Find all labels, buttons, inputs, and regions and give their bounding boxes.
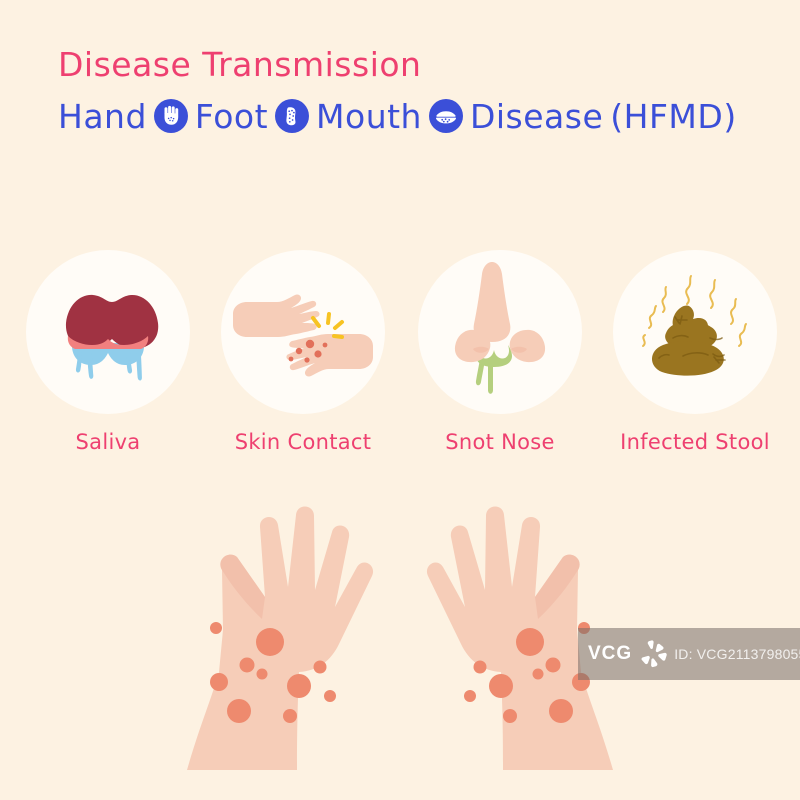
transmission-label-saliva: Saliva bbox=[10, 430, 206, 454]
foot-icon bbox=[275, 99, 309, 133]
page-title: Disease Transmission bbox=[58, 45, 421, 84]
skin-contact-icon bbox=[221, 250, 385, 414]
snot-nose-icon bbox=[418, 250, 582, 414]
subtitle-line: Hand Foot bbox=[58, 99, 737, 133]
transmission-label-skin-contact: Skin Contact bbox=[205, 430, 401, 454]
transmission-label-infected-stool: Infected Stool bbox=[597, 430, 793, 454]
transmission-item-snot-nose: Snot Nose bbox=[402, 250, 598, 454]
saliva-lips-icon bbox=[26, 250, 190, 414]
transmission-routes-row: Saliva bbox=[0, 250, 800, 480]
transmission-item-skin-contact: Skin Contact bbox=[205, 250, 401, 454]
watermark-brand: VCG bbox=[588, 643, 632, 665]
subtitle-word-mouth: Mouth bbox=[316, 100, 422, 133]
hfmd-infographic-poster: Disease Transmission Hand Foot bbox=[0, 0, 800, 800]
left-hand-with-rash bbox=[187, 506, 373, 770]
mouth-icon bbox=[429, 99, 463, 133]
hand-icon bbox=[154, 99, 188, 133]
watermark-id: ID: VCG211379805530 bbox=[674, 646, 800, 662]
vcg-logo-icon bbox=[638, 639, 668, 669]
transmission-item-infected-stool: Infected Stool bbox=[597, 250, 793, 454]
subtitle-word-disease: Disease bbox=[470, 100, 603, 133]
vcg-watermark: VCG ID: VCG211379805530 bbox=[578, 628, 800, 680]
subtitle-word-abbrev: (HFMD) bbox=[610, 100, 736, 133]
transmission-label-snot-nose: Snot Nose bbox=[402, 430, 598, 454]
transmission-item-saliva: Saliva bbox=[10, 250, 206, 454]
subtitle-word-hand: Hand bbox=[58, 100, 147, 133]
subtitle-word-foot: Foot bbox=[195, 100, 268, 133]
infected-stool-icon bbox=[613, 250, 777, 414]
